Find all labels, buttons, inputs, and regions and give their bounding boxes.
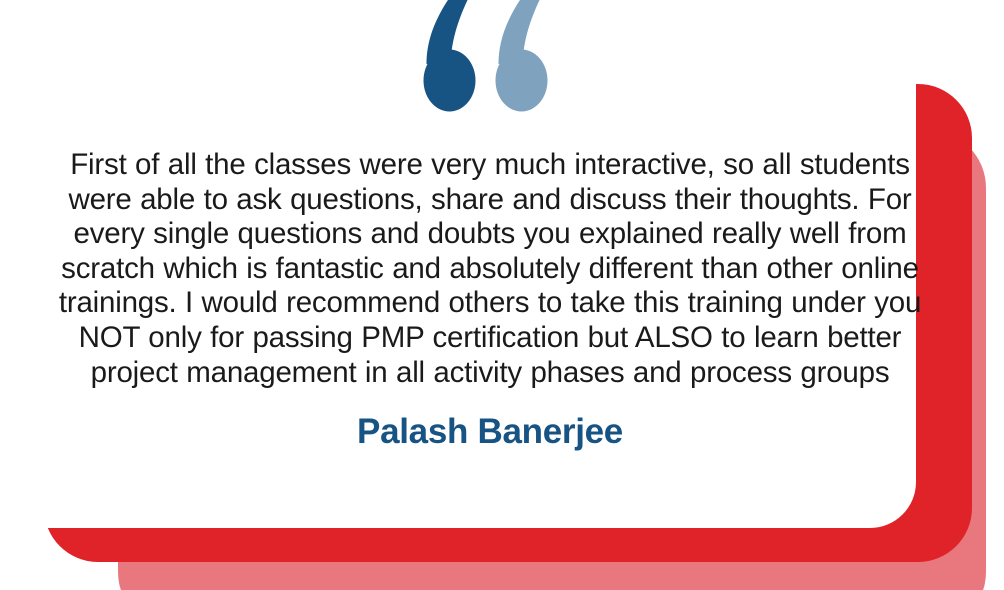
testimonial-content: First of all the classes were very much … — [0, 148, 980, 453]
double-quote-open-icon — [398, 0, 568, 124]
testimonial-card: First of all the classes were very much … — [0, 0, 1004, 590]
testimonial-author-name: Palash Banerjee — [55, 411, 925, 453]
testimonial-quote-text: First of all the classes were very much … — [55, 148, 925, 390]
